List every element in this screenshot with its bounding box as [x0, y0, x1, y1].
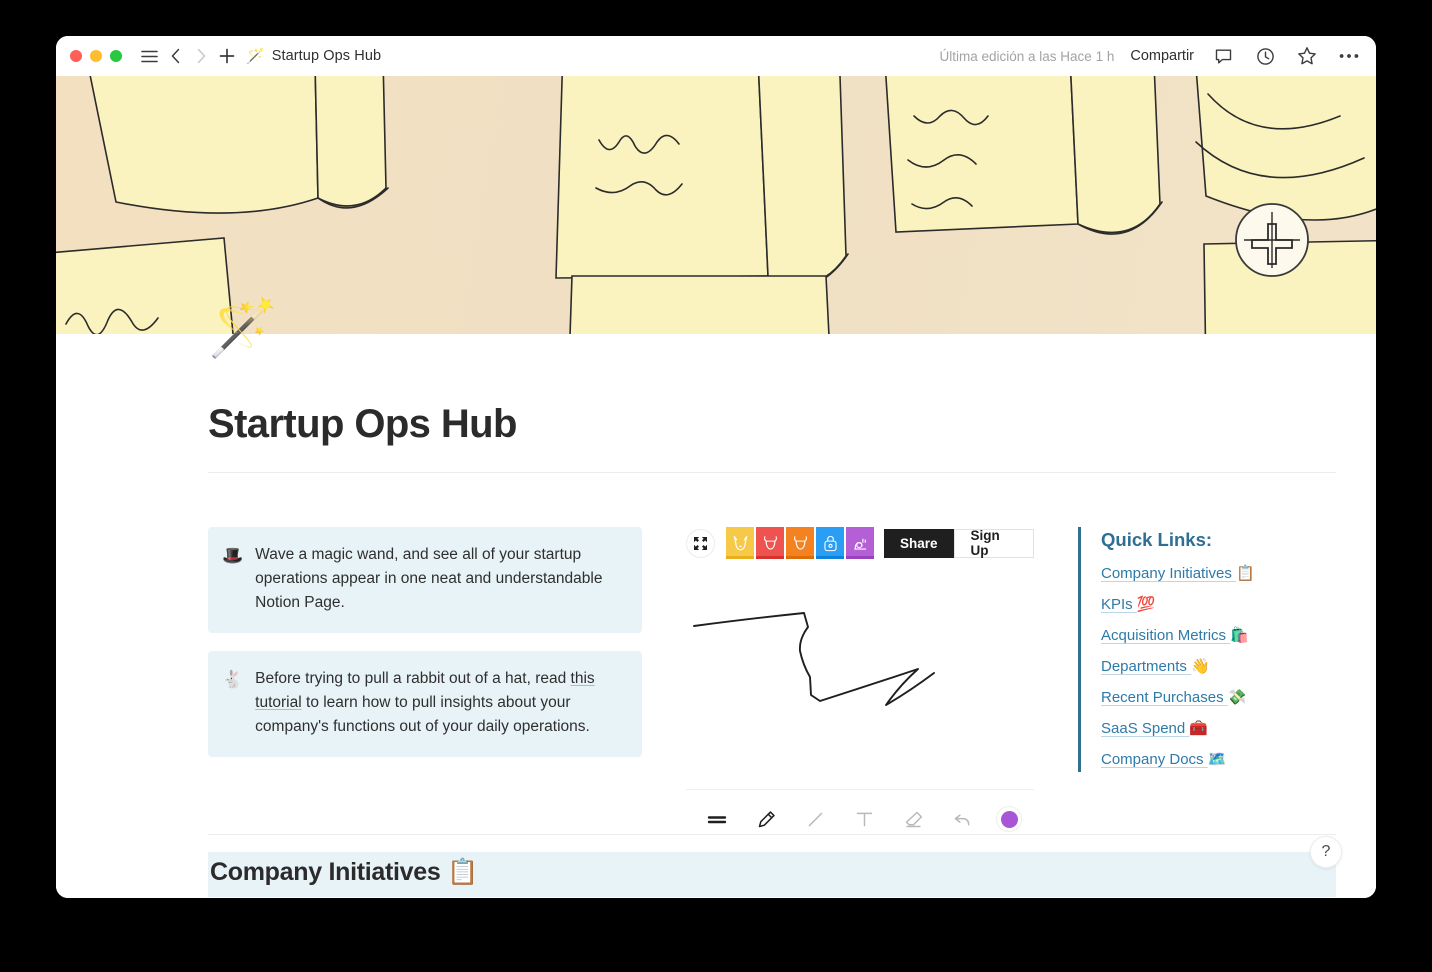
quick-links-heading: Quick Links: — [1101, 529, 1336, 551]
quick-link-label: Company Docs — [1101, 751, 1204, 768]
plus-icon[interactable] — [214, 43, 240, 69]
text-t-tool[interactable] — [849, 804, 879, 834]
quick-link-label: KPIs — [1101, 596, 1133, 613]
quick-link-label: Company Initiatives — [1101, 565, 1232, 582]
expand-fullscreen-icon[interactable] — [686, 529, 715, 558]
shopping-bags-icon: 🛍️ — [1230, 626, 1249, 644]
eraser-tool[interactable] — [898, 804, 928, 834]
quick-link-kpis[interactable]: KPIs 💯 — [1101, 595, 1156, 613]
top-hat-icon: 🎩 — [222, 543, 243, 615]
help-button[interactable]: ? — [1310, 836, 1342, 868]
goat-avatar-2[interactable] — [786, 527, 814, 559]
color-swatch — [1001, 811, 1018, 828]
callout-block[interactable]: 🎩 Wave a magic wand, and see all of your… — [208, 527, 642, 633]
quick-links-block: Quick Links: Company Initiatives 📋 KPIs … — [1078, 527, 1336, 772]
page-body: 🪄 Startup Ops Hub 🎩 Wave a magic wand, a… — [56, 334, 1376, 898]
page-icon-magic-wand[interactable]: 🪄 — [208, 300, 278, 356]
drawing-widget: Share Sign Up — [686, 527, 1034, 834]
drawing-tools — [686, 789, 1034, 834]
chevron-left-icon[interactable] — [162, 43, 188, 69]
quick-link-recent-purchases[interactable]: Recent Purchases 💸 — [1101, 688, 1246, 706]
clock-history-icon[interactable] — [1252, 43, 1278, 69]
quick-links-column: Quick Links: Company Initiatives 📋 KPIs … — [1078, 527, 1336, 772]
callout-text: Before trying to pull a rabbit out of a … — [255, 667, 624, 739]
star-icon[interactable] — [1294, 43, 1320, 69]
quick-link-departments[interactable]: Departments 👋 — [1101, 657, 1210, 675]
titlebar-actions: Última edición a las Hace 1 h Compartir — [940, 43, 1363, 69]
clipboard-icon: 📋 — [1236, 564, 1255, 582]
goat-avatar[interactable] — [756, 527, 784, 559]
fox-avatar[interactable] — [726, 527, 754, 559]
crosshair-logo-badge — [1236, 204, 1308, 276]
title-divider — [208, 472, 1336, 473]
chevron-right-icon[interactable] — [188, 43, 214, 69]
section-divider — [208, 834, 1336, 835]
share-button[interactable]: Compartir — [1130, 48, 1194, 64]
quick-link-company-initiatives[interactable]: Company Initiatives 📋 — [1101, 564, 1255, 582]
hamburger-menu-icon[interactable] — [136, 43, 162, 69]
snail-avatar[interactable] — [846, 527, 874, 559]
menu-handle-tool[interactable] — [702, 804, 732, 834]
callout-block[interactable]: 🐇 Before trying to pull a rabbit out of … — [208, 651, 642, 757]
undo-arrow-tool[interactable] — [947, 804, 977, 834]
app-window: 🪄 Startup Ops Hub Última edición a las H… — [56, 36, 1376, 898]
lock-avatar[interactable] — [816, 527, 844, 559]
quick-link-label: Departments — [1101, 658, 1187, 675]
waving-hand-icon: 👋 — [1191, 657, 1210, 675]
desktop-background: 🪄 Startup Ops Hub Última edición a las H… — [0, 0, 1432, 972]
hundred-points-icon: 💯 — [1137, 595, 1156, 613]
comment-bubble-icon[interactable] — [1210, 43, 1236, 69]
callout-text-before: Before trying to pull a rabbit out of a … — [255, 670, 570, 687]
maximize-window-button[interactable] — [110, 50, 122, 62]
quick-link-label: Acquisition Metrics — [1101, 627, 1226, 644]
quick-link-label: SaaS Spend — [1101, 720, 1185, 737]
world-map-icon: 🗺️ — [1208, 750, 1227, 768]
traffic-lights — [70, 50, 122, 62]
quick-link-label: Recent Purchases — [1101, 689, 1224, 706]
page-title[interactable]: Startup Ops Hub — [208, 402, 517, 447]
last-edited-label: Última edición a las Hace 1 h — [940, 49, 1115, 64]
section-heading-company-initiatives[interactable]: Company Initiatives 📋 — [208, 852, 1336, 897]
quick-link-company-docs[interactable]: Company Docs 🗺️ — [1101, 750, 1226, 768]
callout-text-main: Wave a magic wand, and see all of your s… — [255, 546, 602, 611]
callout-text: Wave a magic wand, and see all of your s… — [255, 543, 624, 615]
breadcrumb[interactable]: 🪄 Startup Ops Hub — [246, 48, 381, 64]
collaborator-avatars — [726, 527, 874, 559]
pen-tool[interactable] — [751, 804, 781, 834]
titlebar: 🪄 Startup Ops Hub Última edición a las H… — [56, 36, 1376, 76]
ellipsis-icon[interactable] — [1336, 43, 1362, 69]
drawing-widget-toolbar: Share Sign Up — [686, 527, 1034, 559]
magic-wand-icon: 🪄 — [246, 49, 265, 64]
canvas-scribble — [686, 581, 1034, 777]
close-window-button[interactable] — [70, 50, 82, 62]
quick-link-saas-spend[interactable]: SaaS Spend 🧰 — [1101, 719, 1208, 737]
callout-text-after: to learn how to pull insights about your… — [255, 694, 590, 735]
toolbox-icon: 🧰 — [1189, 719, 1208, 737]
quick-link-acquisition-metrics[interactable]: Acquisition Metrics 🛍️ — [1101, 626, 1249, 644]
clipboard-icon: 📋 — [447, 858, 478, 886]
callout-column: 🎩 Wave a magic wand, and see all of your… — [208, 527, 642, 757]
rabbit-icon: 🐇 — [222, 667, 243, 739]
color-swatch-button[interactable] — [996, 806, 1022, 832]
line-tool[interactable] — [800, 804, 830, 834]
widget-share-button[interactable]: Share — [884, 529, 954, 558]
drawing-canvas[interactable] — [686, 581, 1034, 777]
breadcrumb-title: Startup Ops Hub — [272, 48, 382, 64]
widget-signup-button[interactable]: Sign Up — [954, 529, 1034, 558]
content-columns: 🎩 Wave a magic wand, and see all of your… — [208, 527, 1336, 834]
minimize-window-button[interactable] — [90, 50, 102, 62]
money-with-wings-icon: 💸 — [1228, 688, 1247, 706]
section-heading-label: Company Initiatives — [210, 858, 440, 886]
